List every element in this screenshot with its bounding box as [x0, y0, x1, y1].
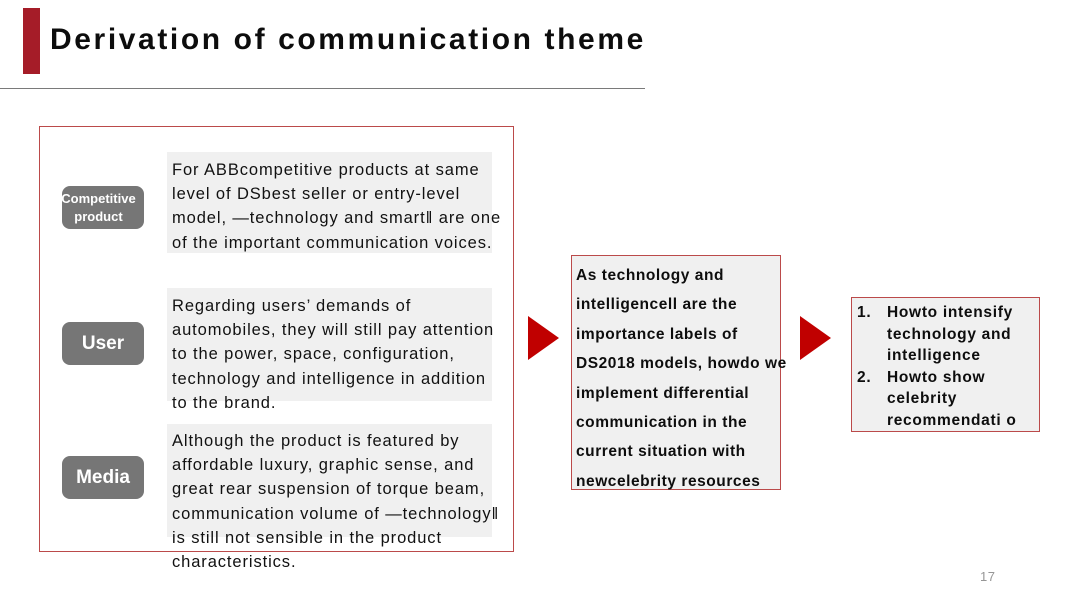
- arrow-right-icon-2: [800, 316, 831, 360]
- list-item: 1. Howto intensify technology and intell…: [855, 302, 1055, 367]
- header-divider: [0, 88, 645, 89]
- competitive-product-text: For ABBcompetitive products at same leve…: [172, 158, 502, 255]
- media-text: Although the product is featured by affo…: [172, 429, 502, 574]
- badge-media: Media: [62, 456, 144, 499]
- list-item-label: Howto show celebrity recommendati o: [887, 369, 1017, 429]
- page-number: 17: [980, 569, 995, 584]
- conclusion-list: 1. Howto intensify technology and intell…: [855, 302, 1055, 431]
- page-title: Derivation of communication theme: [50, 19, 646, 61]
- badge-competitive-product-label: Competitive product: [53, 190, 144, 226]
- arrow-right-icon-1: [528, 316, 559, 360]
- list-item-label: Howto intensify technology and intellige…: [887, 304, 1013, 364]
- list-item-number: 2.: [857, 367, 871, 389]
- badge-competitive-product: Competitive product: [62, 186, 144, 229]
- title-accent-bar: [23, 8, 40, 74]
- badge-media-label: Media: [76, 469, 130, 487]
- badge-user-label: User: [82, 335, 124, 353]
- user-text: Regarding users’ demands of automobiles,…: [172, 294, 502, 415]
- badge-user: User: [62, 322, 144, 365]
- list-item-number: 1.: [857, 302, 871, 324]
- list-item: 2. Howto show celebrity recommendati o: [855, 367, 1055, 432]
- question-text: As technology and intelligencell are the…: [576, 261, 796, 496]
- slide-canvas: Derivation of communication theme Compet…: [0, 0, 1080, 608]
